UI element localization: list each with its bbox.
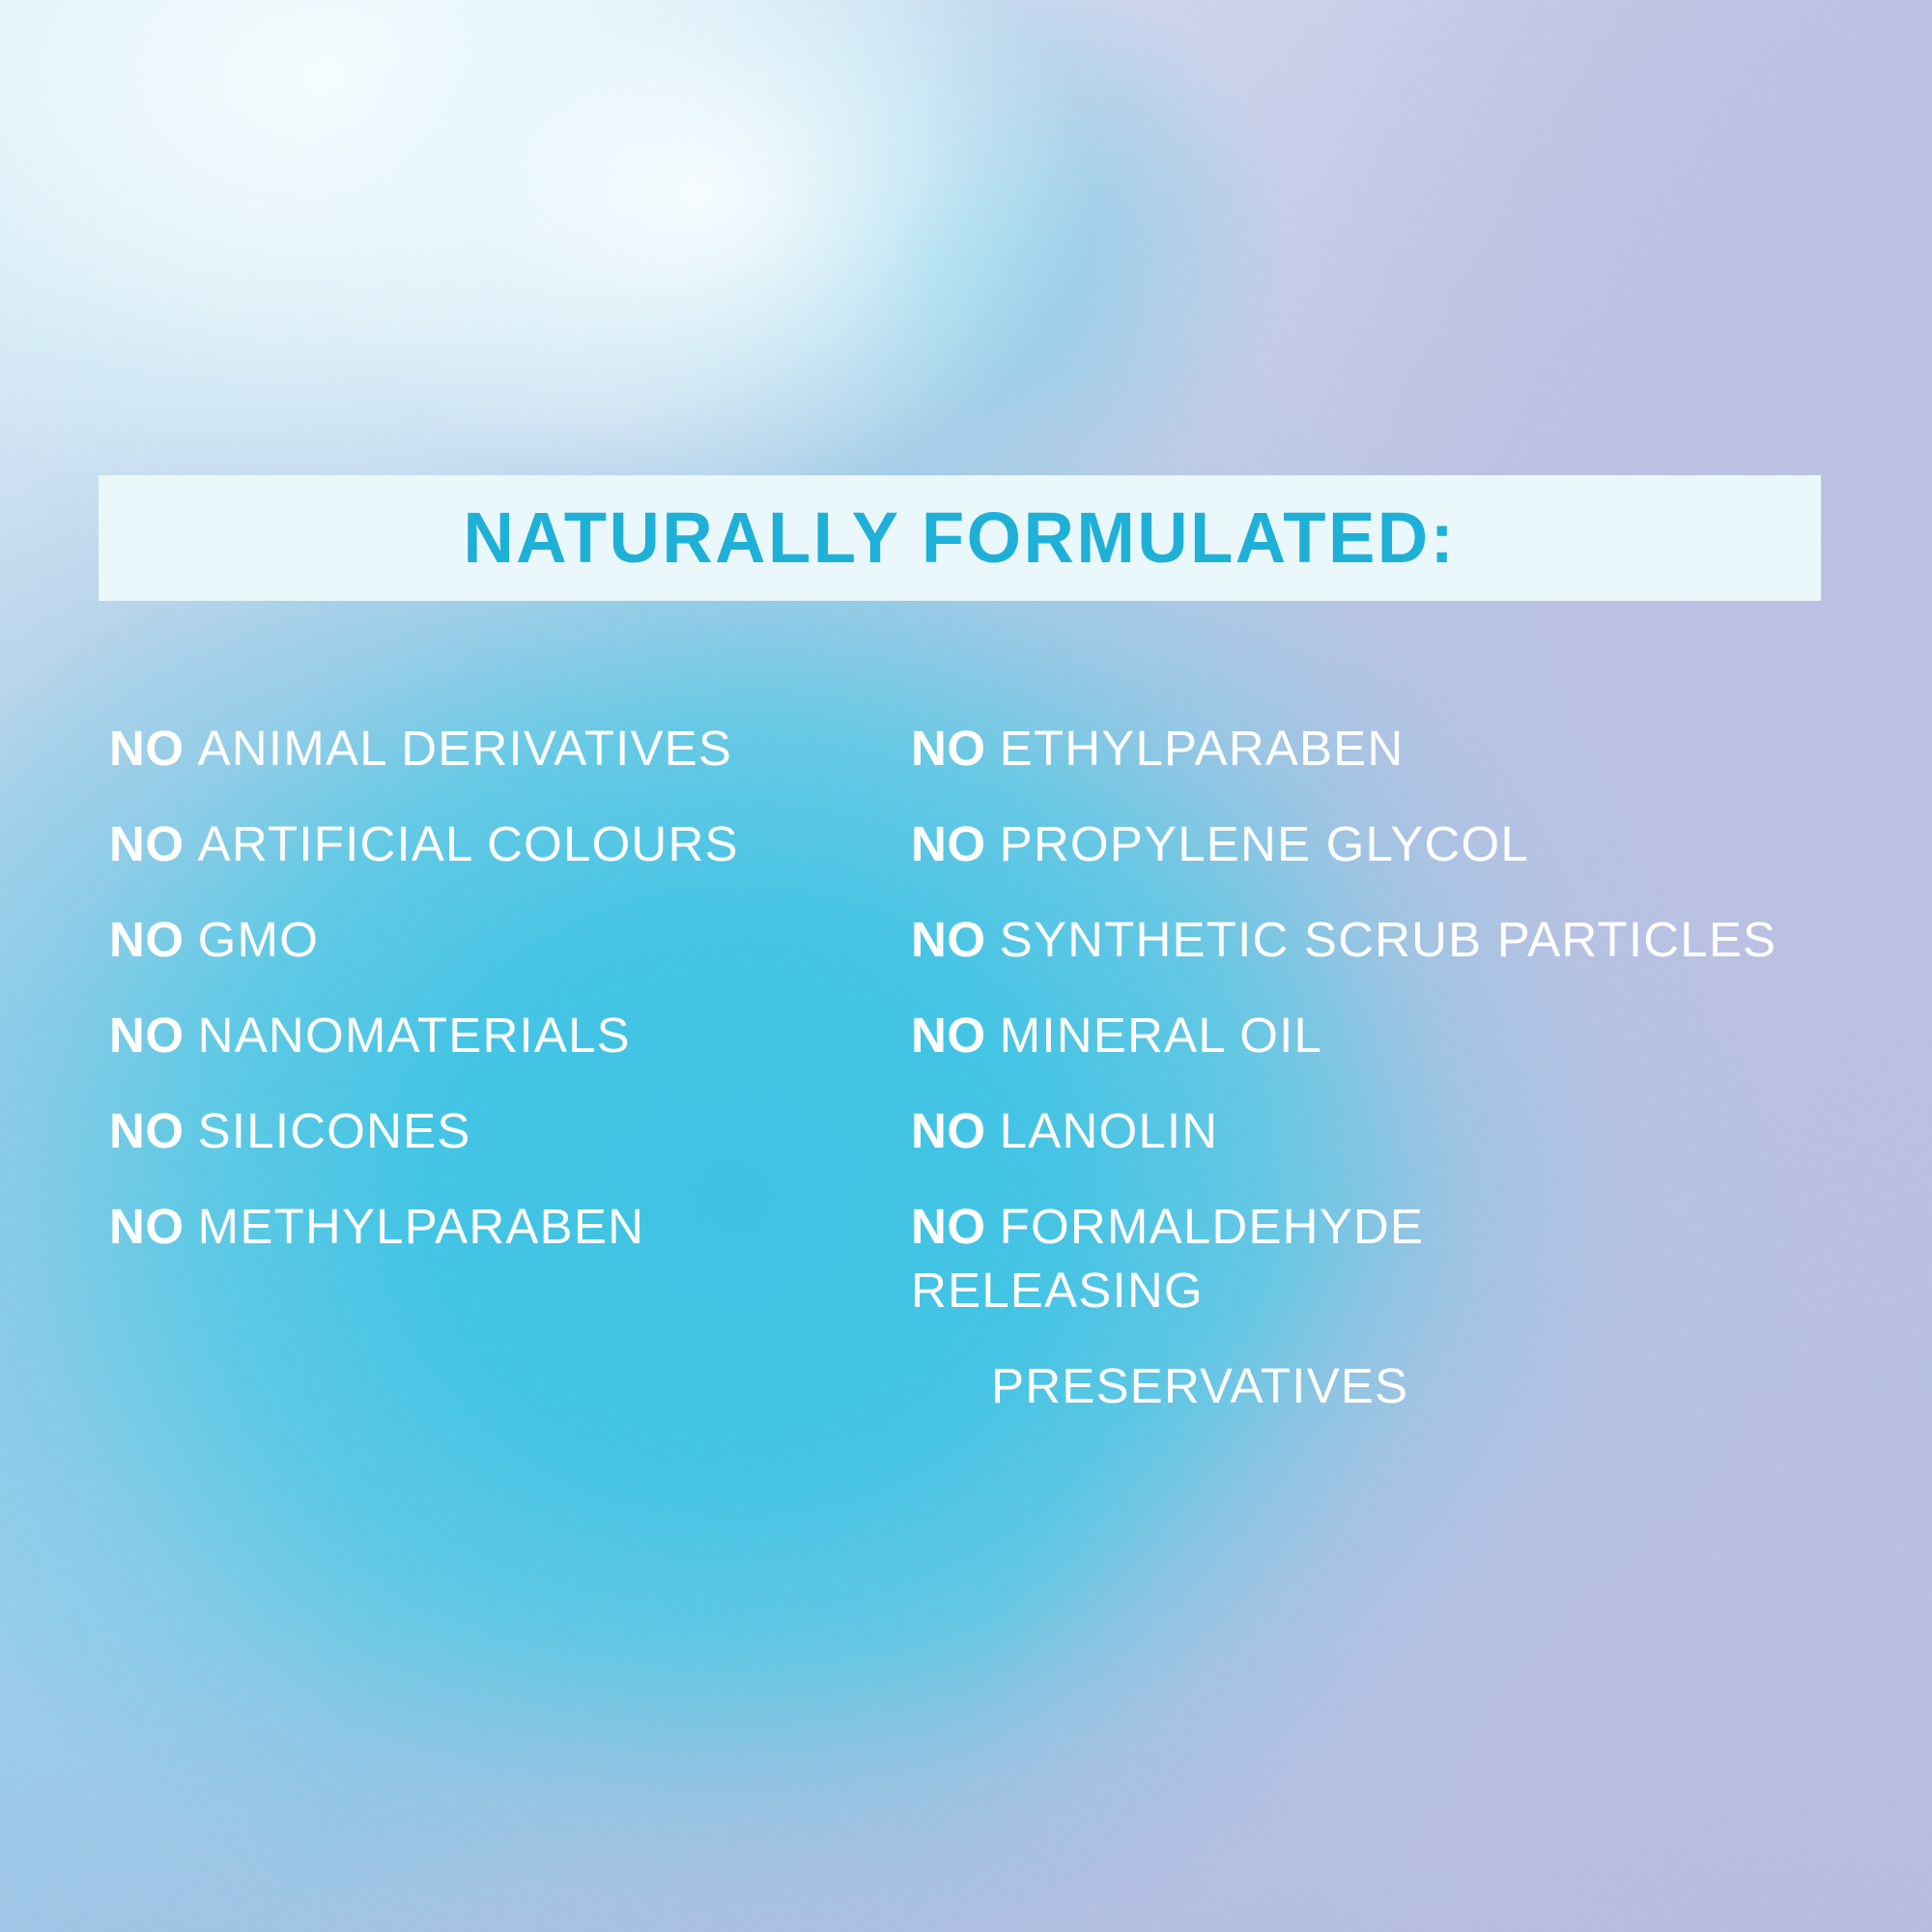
claim-label: METHYLPARABEN — [198, 1199, 644, 1254]
claim-item: NO METHYLPARABEN — [109, 1195, 872, 1291]
claim-label: MINERAL OIL — [1000, 1008, 1322, 1063]
claim-label: PROPYLENE GLYCOL — [1000, 816, 1529, 871]
claim-label: SYNTHETIC SCRUB PARTICLES — [1000, 912, 1777, 967]
claim-item: NO ARTIFICIAL COLOURS — [109, 812, 872, 908]
claim-label: ARTIFICIAL COLOURS — [198, 816, 739, 871]
claim-item: NO MINERAL OIL — [911, 1004, 1877, 1099]
claim-label: SILICONES — [198, 1103, 471, 1158]
title-banner: NATURALLY FORMULATED: — [99, 475, 1821, 601]
page-title: NATURALLY FORMULATED: — [464, 502, 1457, 574]
claim-item: NO GMO — [109, 908, 872, 1004]
promo-graphic: NATURALLY FORMULATED: NO ANIMAL DERIVATI… — [0, 0, 1932, 1932]
claim-prefix: NO — [911, 1103, 986, 1158]
claim-label: GMO — [198, 912, 319, 967]
claim-item: NO ANIMAL DERIVATIVES — [109, 717, 872, 812]
claim-prefix: NO — [911, 816, 986, 871]
claim-label: ANIMAL DERIVATIVES — [198, 721, 732, 776]
claim-prefix: NO — [109, 1103, 185, 1158]
claim-prefix: NO — [109, 912, 185, 967]
claim-item: NO LANOLIN — [911, 1099, 1877, 1195]
claim-label: NANOMATERIALS — [198, 1008, 631, 1063]
claim-prefix: NO — [911, 1199, 986, 1254]
claim-label: ETHYLPARABEN — [1000, 721, 1405, 776]
claim-item: NO NANOMATERIALS — [109, 1004, 872, 1099]
claim-prefix: NO — [109, 721, 185, 776]
claim-label-continued: PRESERVATIVES — [991, 1354, 1645, 1418]
claim-prefix: NO — [911, 912, 986, 967]
claims-column-left: NO ANIMAL DERIVATIVES NO ARTIFICIAL COLO… — [109, 717, 872, 1291]
claim-item: NO PROPYLENE GLYCOL — [911, 812, 1877, 908]
claim-item: NO SYNTHETIC SCRUB PARTICLES — [911, 908, 1877, 1004]
claim-item: NO SILICONES — [109, 1099, 872, 1195]
claim-label: LANOLIN — [1000, 1103, 1219, 1158]
claim-item: NO FORMALDEHYDE RELEASINGPRESERVATIVES — [911, 1195, 1645, 1386]
claim-prefix: NO — [109, 1008, 185, 1063]
claims-column-right: NO ETHYLPARABEN NO PROPYLENE GLYCOL NO S… — [911, 717, 1877, 1386]
claim-prefix: NO — [109, 816, 185, 871]
claim-prefix: NO — [109, 1199, 185, 1254]
claim-prefix: NO — [911, 1008, 986, 1063]
claim-item: NO ETHYLPARABEN — [911, 717, 1877, 812]
claim-prefix: NO — [911, 721, 986, 776]
